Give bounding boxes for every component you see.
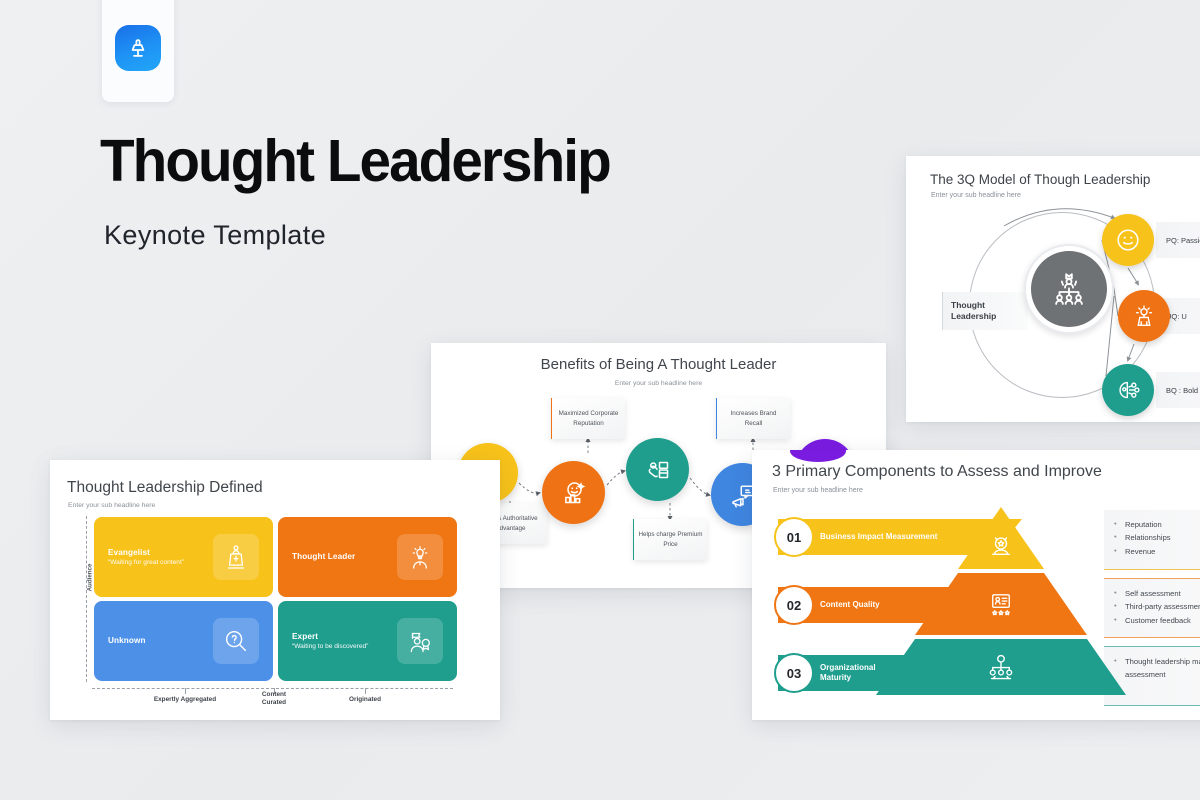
center-label: Thought Leadership xyxy=(942,292,1028,330)
step-number-ring-01: 01 xyxy=(774,517,814,557)
x-axis-tick-3 xyxy=(365,688,366,694)
hand-presentation-icon xyxy=(626,438,689,501)
bullet-item: Third-party assessment xyxy=(1114,600,1200,613)
y-axis-label: Audience xyxy=(86,564,93,592)
poster-canvas: Thought Leadership Keynote Template The … xyxy=(0,0,1200,800)
page-title: Thought Leadership xyxy=(100,132,610,191)
slide-three-primary-components[interactable]: 3 Primary Components to Assess and Impro… xyxy=(752,450,1200,720)
x-axis-tick-1 xyxy=(185,688,186,694)
slide-3q-model[interactable]: The 3Q Model of Though Leadership Enter … xyxy=(906,156,1200,422)
quadrant-expert[interactable]: Expert “Waiting to be discovered” xyxy=(278,601,457,681)
center-label-line2: Leadership xyxy=(951,311,996,321)
quadrant-quote: “Waiting to be discovered” xyxy=(292,643,368,650)
bullet-item: Relationships xyxy=(1114,531,1200,544)
benefit-box-maximized: Maximized Corporate Reputation xyxy=(551,398,625,439)
x-axis xyxy=(92,688,453,689)
podium-presentation-icon xyxy=(115,25,161,71)
quadrant-evangelist[interactable]: Evangelist “Waiting for great content” xyxy=(94,517,273,597)
decorative-purple-blob xyxy=(790,450,846,462)
benefit-box-premium-price: Helps charge Premium Price xyxy=(633,519,707,560)
benefit-box-brand-recall: Increases Brand Recall xyxy=(716,398,790,439)
head-network-icon xyxy=(1102,364,1154,416)
maturity-tree-icon xyxy=(986,653,1016,683)
quadrant-name: Evangelist xyxy=(108,548,184,557)
quadrant-name: Expert xyxy=(292,632,368,641)
quadrant-name: Thought Leader xyxy=(292,552,355,561)
slide-subtitle: Enter your sub headline here xyxy=(773,487,863,494)
node-label-bq: BQ : Bold Q xyxy=(1156,372,1200,408)
bullet-item: Revenue xyxy=(1114,545,1200,558)
x-axis-label-line1: Content xyxy=(262,691,286,698)
step-number-ring-02: 02 xyxy=(774,585,814,625)
org-chart-crown-icon xyxy=(1031,251,1107,327)
quadrant-unknown[interactable]: Unknown xyxy=(94,601,273,681)
x-axis-label-expertly-aggregated: Expertly Aggregated xyxy=(125,696,245,704)
bullet-item: Self assessment xyxy=(1114,587,1200,600)
band-label: Content Quality xyxy=(820,600,880,610)
page-subtitle: Keynote Template xyxy=(104,220,326,251)
quadrant-name: Unknown xyxy=(108,636,146,645)
magnifier-question-icon xyxy=(213,618,259,664)
y-axis xyxy=(86,516,87,682)
bullet-item: Reputation xyxy=(1114,518,1200,531)
smiley-face-icon xyxy=(1102,214,1154,266)
content-stars-icon xyxy=(986,589,1016,619)
step-number-ring-03: 03 xyxy=(774,653,814,693)
award-medal-icon xyxy=(986,531,1016,561)
slide-title: Thought Leadership Defined xyxy=(67,479,263,497)
quadrant-thought-leader[interactable]: Thought Leader xyxy=(278,517,457,597)
band-label: Organizational Maturity xyxy=(820,663,876,684)
reputation-chart-icon xyxy=(542,461,605,524)
center-label-line1: Thought xyxy=(951,300,985,310)
app-badge-card xyxy=(102,0,174,102)
band-label-line1: Organizational xyxy=(820,663,876,672)
x-axis-label-content-curated: Content Curated xyxy=(244,691,304,708)
slide-thought-leadership-defined[interactable]: Thought Leadership Defined Enter your su… xyxy=(50,460,500,720)
slide-subtitle: Enter your sub headline here xyxy=(68,502,155,509)
x-axis-label-originated: Originated xyxy=(322,696,408,704)
podium-speaker-icon xyxy=(213,534,259,580)
quadrant-quote: “Waiting for great content” xyxy=(108,559,184,566)
x-axis-label-line2: Curated xyxy=(262,699,286,706)
slide-title: 3 Primary Components to Assess and Impro… xyxy=(772,463,1102,481)
band-label-line2: Maturity xyxy=(820,673,851,682)
bullet-item: Thought leadership maturity competency a… xyxy=(1114,655,1200,682)
bullet-item: Customer feedback xyxy=(1114,614,1200,627)
pyramid-graphic xyxy=(876,507,1126,702)
person-idea-icon xyxy=(1118,290,1170,342)
node-label-pq: PQ: Passio xyxy=(1156,222,1200,258)
lightbulb-person-icon xyxy=(397,534,443,580)
person-badge-icon xyxy=(397,618,443,664)
